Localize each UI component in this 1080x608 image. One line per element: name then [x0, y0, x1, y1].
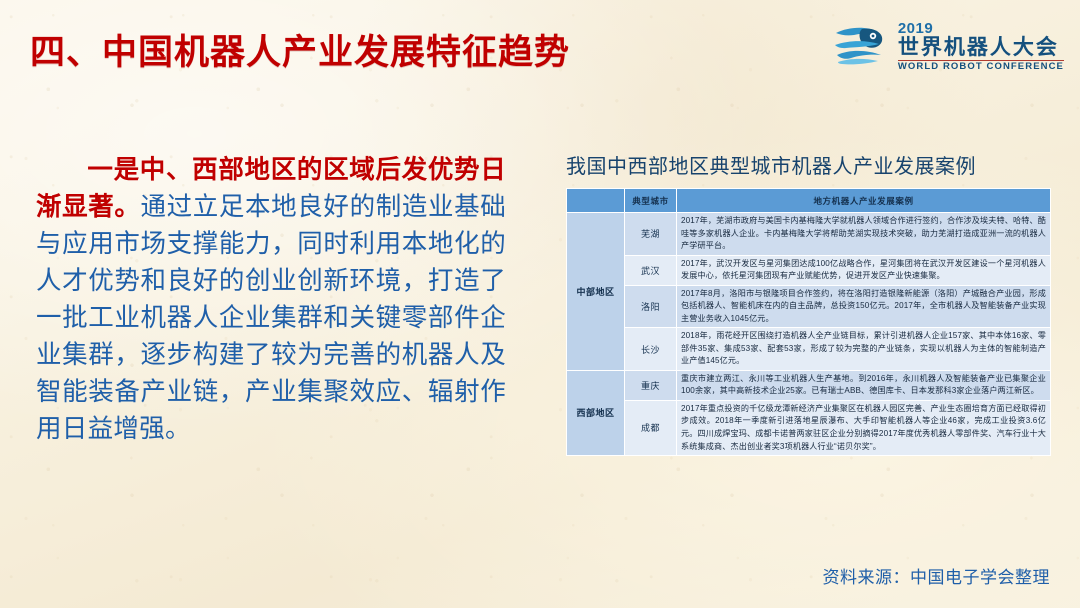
city-cell: 成都 [625, 400, 677, 455]
table-row: 武汉 2017年，武汉开发区与星河集团达成100亿战略合作，星河集团将在武汉开发… [567, 255, 1051, 285]
body-paragraph: 一是中、西部地区的区域后发优势日渐显著。通过立足本地良好的制造业基础与应用市场支… [36, 152, 506, 448]
case-cell: 2018年，雨花经开区围绕打造机器人全产业链目标，累计引进机器人企业157家、其… [677, 328, 1051, 371]
region-cell-western: 西部地区 [567, 370, 625, 455]
city-cell: 长沙 [625, 328, 677, 371]
logo-name-cn: 世界机器人大会 [898, 37, 1064, 59]
table-row: 中部地区 芜湖 2017年，芜湖市政府与美国卡内基梅隆大学就机器人领域合作进行签… [567, 213, 1051, 256]
robot-wave-logo-icon [832, 24, 890, 68]
city-cell: 芜湖 [625, 213, 677, 256]
column-header-case: 地方机器人产业发展案例 [677, 189, 1051, 213]
case-table: 典型城市 地方机器人产业发展案例 中部地区 芜湖 2017年，芜湖市政府与美国卡… [566, 188, 1051, 456]
column-header-region [567, 189, 625, 213]
table-row: 长沙 2018年，雨花经开区围绕打造机器人全产业链目标，累计引进机器人企业157… [567, 328, 1051, 371]
conference-logo: 2019 世界机器人大会 WORLD ROBOT CONFERENCE [832, 20, 1064, 72]
body-rest-text: 通过立足本地良好的制造业基础与应用市场支撑能力，同时利用本地化的人才优势和良好的… [36, 193, 506, 443]
table-row: 洛阳 2017年8月，洛阳市与银隆项目合作签约，将在洛阳打造银隆新能源（洛阳）产… [567, 285, 1051, 328]
table-title: 我国中西部地区典型城市机器人产业发展案例 [566, 150, 976, 179]
page-title: 四、中国机器人产业发展特征趋势 [30, 24, 570, 75]
case-cell: 2017年重点投资的千亿级龙潭新经济产业集聚区在机器人园区完善、产业生态圈培育方… [677, 400, 1051, 455]
table-header: 典型城市 地方机器人产业发展案例 [567, 189, 1051, 213]
table-body: 中部地区 芜湖 2017年，芜湖市政府与美国卡内基梅隆大学就机器人领域合作进行签… [567, 213, 1051, 456]
logo-name-en: WORLD ROBOT CONFERENCE [898, 60, 1064, 72]
table-row: 西部地区 重庆 重庆市建立两江、永川等工业机器人生产基地。到2016年，永川机器… [567, 370, 1051, 400]
case-cell: 2017年8月，洛阳市与银隆项目合作签约，将在洛阳打造银隆新能源（洛阳）产城融合… [677, 285, 1051, 328]
city-cell: 武汉 [625, 255, 677, 285]
source-note: 资料来源：中国电子学会整理 [823, 563, 1051, 588]
case-cell: 2017年，武汉开发区与星河集团达成100亿战略合作，星河集团将在武汉开发区建设… [677, 255, 1051, 285]
slide-canvas: 四、中国机器人产业发展特征趋势 2019 世界机器人大会 WORLD ROBOT… [0, 0, 1080, 608]
city-cell: 洛阳 [625, 285, 677, 328]
table-row: 成都 2017年重点投资的千亿级龙潭新经济产业集聚区在机器人园区完善、产业生态圈… [567, 400, 1051, 455]
case-cell: 2017年，芜湖市政府与美国卡内基梅隆大学就机器人领域合作进行签约，合作涉及埃夫… [677, 213, 1051, 256]
logo-year: 2019 [898, 21, 1064, 36]
table-header-row: 典型城市 地方机器人产业发展案例 [567, 189, 1051, 213]
region-cell-central: 中部地区 [567, 213, 625, 371]
logo-text-block: 2019 世界机器人大会 WORLD ROBOT CONFERENCE [898, 21, 1064, 72]
city-cell: 重庆 [625, 370, 677, 400]
column-header-city: 典型城市 [625, 189, 677, 213]
case-cell: 重庆市建立两江、永川等工业机器人生产基地。到2016年，永川机器人及智能装备产业… [677, 370, 1051, 400]
